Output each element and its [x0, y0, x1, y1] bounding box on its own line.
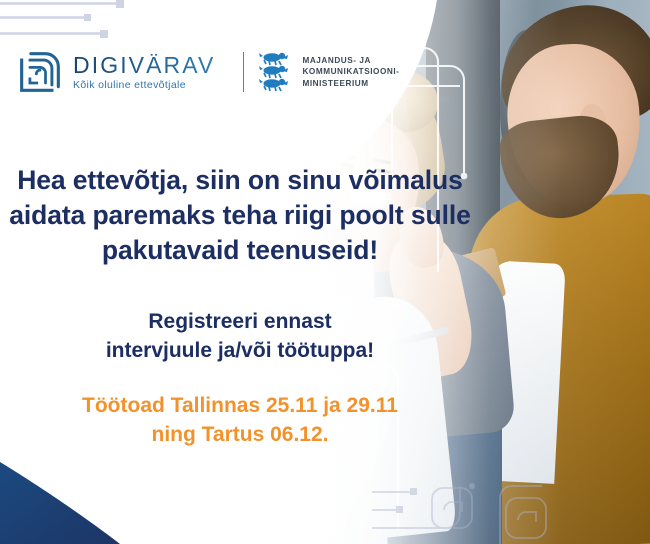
estonia-three-lions-coat-of-arms-icon	[258, 51, 292, 93]
digivarav-logo[interactable]: DIGIVÄRAV Kõik oluline ettevõtjale	[18, 50, 215, 94]
ministry-line-2: Kommunikatsiooni-	[302, 66, 399, 78]
poster-canvas: DIGIVÄRAV Kõik oluline ettevõtjale	[0, 0, 650, 544]
digivarav-circuit-watermark-icon	[372, 452, 562, 544]
ministry-line-3: Ministeerium	[302, 78, 399, 90]
logo-divider	[243, 52, 244, 92]
logo-row: DIGIVÄRAV Kõik oluline ettevõtjale	[18, 50, 399, 94]
digivarav-name: DIGIVÄRAV	[73, 54, 215, 77]
ministry-line-1: Majandus- ja	[302, 55, 399, 67]
digivarav-wordmark: DIGIVÄRAV Kõik oluline ettevõtjale	[73, 54, 215, 91]
headline-line-2: aidata paremaks teha riigi poolt sulle	[0, 198, 480, 233]
circuit-lines-decoration	[0, 0, 200, 50]
registration-call-to-action: Registreeri ennast intervjuule ja/või tö…	[0, 308, 480, 366]
headline-line-1: Hea ettevõtja, siin on sinu võimalus	[0, 163, 480, 198]
dates-line-1: Töötoad Tallinnas 25.11 ja 29.11	[0, 392, 480, 421]
subhead-line-1: Registreeri ennast	[0, 308, 480, 337]
ministry-logo[interactable]: Majandus- ja Kommunikatsiooni- Ministeer…	[258, 51, 399, 93]
headline-line-3: pakutavaid teenuseid!	[0, 233, 480, 268]
dates-line-2: ning Tartus 06.12.	[0, 421, 480, 450]
navy-corner-wedge-icon	[0, 454, 210, 544]
digivarav-tagline: Kõik oluline ettevõtjale	[73, 80, 215, 91]
ministry-name: Majandus- ja Kommunikatsiooni- Ministeer…	[302, 55, 399, 90]
subhead-line-2: intervjuule ja/või töötuppa!	[0, 337, 480, 366]
headline: Hea ettevõtja, siin on sinu võimalus aid…	[0, 163, 480, 269]
workshop-dates: Töötoad Tallinnas 25.11 ja 29.11 ning Ta…	[0, 392, 480, 450]
digivarav-spiral-square-logo-icon	[18, 50, 62, 94]
